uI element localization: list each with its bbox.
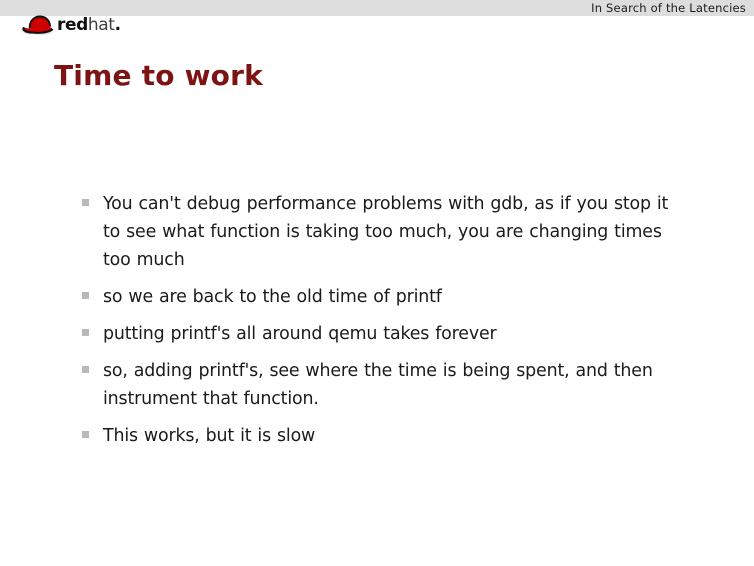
bullet-item: This works, but it is slow [82,422,682,450]
square-bullet-icon [82,292,89,299]
square-bullet-icon [82,329,89,336]
bullet-text: You can't debug performance problems wit… [103,190,682,274]
redhat-wordmark-red: red [57,15,88,35]
square-bullet-icon [82,431,89,438]
bullet-item: so, adding printf's, see where the time … [82,357,682,413]
redhat-logo: redhat. [20,11,130,38]
redhat-shadowman-icon [20,12,56,38]
square-bullet-icon [82,199,89,206]
bullet-item: so we are back to the old time of printf [82,283,682,311]
redhat-wordmark-dot: . [115,15,121,35]
slide-title: Time to work [54,59,263,93]
bullet-text: so, adding printf's, see where the time … [103,357,682,413]
bullet-text: putting printf's all around qemu takes f… [103,320,682,348]
slide-canvas: In Search of the Latencies redhat. Time … [0,0,754,566]
bullet-text: so we are back to the old time of printf [103,283,682,311]
bullet-text: This works, but it is slow [103,422,682,450]
presentation-running-title: In Search of the Latencies [591,0,746,16]
bullet-item: putting printf's all around qemu takes f… [82,320,682,348]
bullet-item: You can't debug performance problems wit… [82,190,682,274]
bullet-list: You can't debug performance problems wit… [82,190,682,459]
redhat-wordmark: redhat. [57,17,121,34]
redhat-wordmark-hat: hat [88,15,115,35]
square-bullet-icon [82,366,89,373]
